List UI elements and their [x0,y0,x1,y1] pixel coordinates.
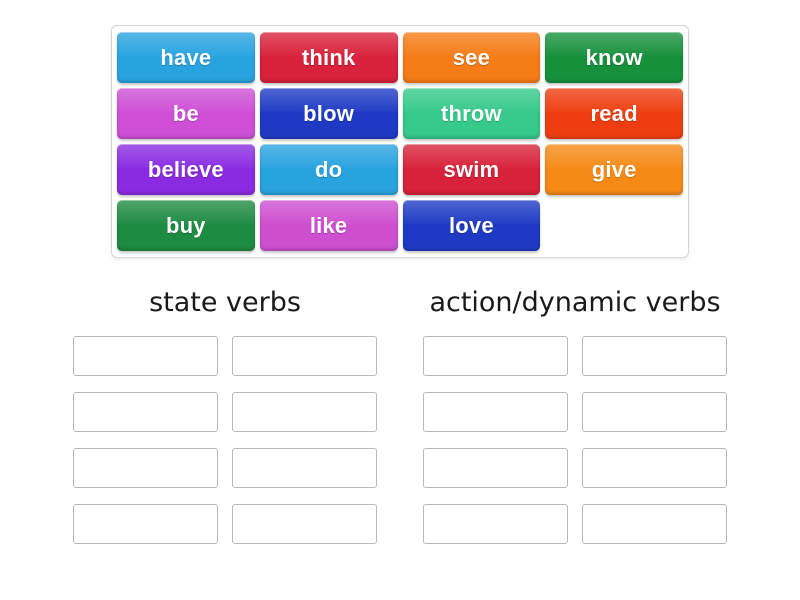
group-slot-grid [415,336,735,544]
drop-slot[interactable] [423,448,568,488]
word-tile-label: do [315,159,342,181]
word-tile[interactable]: know [545,32,683,83]
word-tile-label: buy [166,215,206,237]
sorting-groups: state verbsaction/dynamic verbs [0,288,800,544]
word-tile[interactable]: do [260,144,398,195]
word-tile-label: read [590,103,637,125]
word-bank-cell: read [545,88,683,139]
drop-slot[interactable] [423,392,568,432]
word-tile-label: be [173,103,199,125]
word-tile-label: give [592,159,637,181]
word-bank-cell: throw [403,88,541,139]
word-tile-label: think [302,47,356,69]
word-bank-cell: see [403,32,541,83]
drop-slot[interactable] [232,448,377,488]
word-bank-cell: like [260,200,398,251]
drop-slot[interactable] [232,336,377,376]
word-bank-cell: buy [117,200,255,251]
drop-slot[interactable] [73,336,218,376]
word-bank-cell: have [117,32,255,83]
word-tile-label: know [586,47,643,69]
word-tile-label: throw [441,103,502,125]
word-bank-cell: believe [117,144,255,195]
word-tile[interactable]: have [117,32,255,83]
word-bank-grid: havethinkseeknowbeblowthrowreadbelievedo… [117,32,683,251]
word-bank-empty-cell [545,200,683,251]
word-tile[interactable]: read [545,88,683,139]
word-tile-label: believe [148,159,224,181]
word-tile-label: see [453,47,490,69]
sorting-activity-page: havethinkseeknowbeblowthrowreadbelievedo… [0,0,800,600]
word-tile-label: swim [443,159,499,181]
word-bank-cell: think [260,32,398,83]
drop-slot[interactable] [423,504,568,544]
word-bank-cell [545,200,683,251]
drop-slot[interactable] [582,336,727,376]
word-tile[interactable]: blow [260,88,398,139]
word-tile-label: blow [303,103,354,125]
word-tile[interactable]: swim [403,144,541,195]
word-bank-cell: know [545,32,683,83]
word-tile[interactable]: believe [117,144,255,195]
word-tile-label: like [310,215,348,237]
sorting-group: action/dynamic verbs [415,288,735,544]
drop-slot[interactable] [232,392,377,432]
word-bank-cell: give [545,144,683,195]
word-tile[interactable]: give [545,144,683,195]
word-bank-cell: blow [260,88,398,139]
group-title: state verbs [65,288,385,318]
drop-slot[interactable] [423,336,568,376]
word-tile[interactable]: throw [403,88,541,139]
drop-slot[interactable] [232,504,377,544]
sorting-group: state verbs [65,288,385,544]
word-bank-cell: swim [403,144,541,195]
group-slot-grid [65,336,385,544]
drop-slot[interactable] [582,392,727,432]
word-tile-label: love [449,215,494,237]
word-tile[interactable]: think [260,32,398,83]
word-tile-label: have [160,47,211,69]
word-bank-container: havethinkseeknowbeblowthrowreadbelievedo… [111,25,689,258]
word-bank-cell: do [260,144,398,195]
drop-slot[interactable] [73,448,218,488]
drop-slot[interactable] [582,448,727,488]
word-bank-cell: love [403,200,541,251]
group-title: action/dynamic verbs [415,288,735,318]
word-tile[interactable]: be [117,88,255,139]
word-tile[interactable]: love [403,200,541,251]
word-tile[interactable]: buy [117,200,255,251]
word-tile[interactable]: see [403,32,541,83]
word-tile[interactable]: like [260,200,398,251]
word-bank-cell: be [117,88,255,139]
drop-slot[interactable] [582,504,727,544]
drop-slot[interactable] [73,504,218,544]
drop-slot[interactable] [73,392,218,432]
